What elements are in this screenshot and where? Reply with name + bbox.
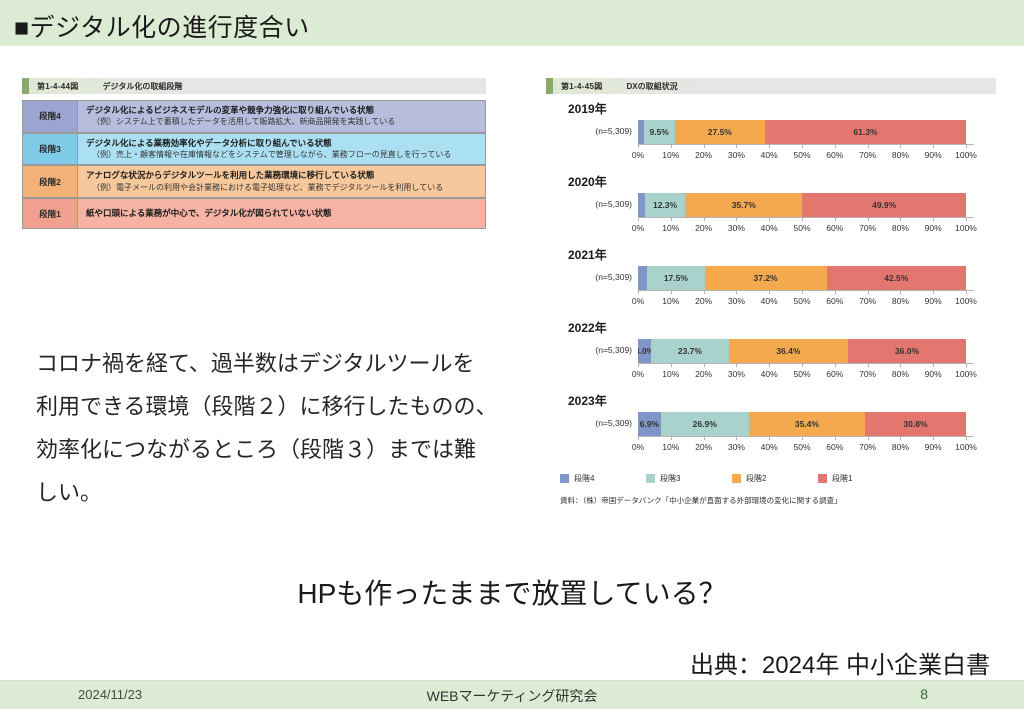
stage-body: 紙や口頭による業務が中心で、デジタル化が図られていない状態 <box>78 198 486 229</box>
stage-main-text: デジタル化によるビジネスモデルの変革や競争力強化に取り組んでいる状態 <box>86 105 479 116</box>
stage-example-text: （例）売上・顧客情報や在庫情報などをシステムで管理しながら、業務フローの見直しを… <box>86 149 479 160</box>
x-axis-tick <box>966 217 967 221</box>
bar-segment: 30.8% <box>865 412 966 436</box>
legend-swatch <box>732 474 741 483</box>
x-axis-tick <box>802 217 803 221</box>
x-axis-tick-label: 30% <box>728 223 745 233</box>
right-figure-caption-body: 第1-4-45図 DXの取組状況 <box>553 78 996 94</box>
x-axis-tick <box>868 144 869 148</box>
x-axis-tick <box>966 290 967 294</box>
legend-label: 段階2 <box>746 473 766 484</box>
bar-segment <box>638 266 647 290</box>
body-line: コロナ禍を経て、過半数はデジタルツールを <box>36 343 536 386</box>
x-axis-tick <box>802 290 803 294</box>
x-axis: 0%10%20%30%40%50%60%70%80%90%100% <box>638 363 966 383</box>
x-axis-tick <box>638 217 639 221</box>
x-axis-tick <box>638 436 639 440</box>
x-axis-tick-label: 60% <box>826 442 843 452</box>
x-axis-line <box>638 436 974 437</box>
x-axis-tick-label: 40% <box>761 296 778 306</box>
bar-group: 2022年(n=5,309)4.0%23.7%36.4%36.0%0%10%20… <box>546 319 996 392</box>
x-axis-tick-label: 40% <box>761 369 778 379</box>
x-axis-tick-label: 80% <box>892 296 909 306</box>
x-axis: 0%10%20%30%40%50%60%70%80%90%100% <box>638 144 966 164</box>
bar-year-label: 2020年 <box>568 173 607 190</box>
x-axis-tick <box>704 290 705 294</box>
x-axis-line <box>638 217 974 218</box>
x-axis-tick <box>868 217 869 221</box>
stage-row: 段階3 デジタル化による業務効率化やデータ分析に取り組んでいる状態 （例）売上・… <box>22 133 486 166</box>
x-axis-tick <box>736 144 737 148</box>
x-axis-tick-label: 100% <box>955 223 977 233</box>
stage-row: 段階1 紙や口頭による業務が中心で、デジタル化が図られていない状態 <box>22 198 486 229</box>
x-axis-tick-label: 70% <box>859 150 876 160</box>
bar-segment: 9.5% <box>644 120 675 144</box>
stage-label: 段階1 <box>22 198 78 229</box>
stage-label: 段階3 <box>22 133 78 166</box>
bar-year-label: 2019年 <box>568 100 607 117</box>
x-axis-tick <box>835 363 836 367</box>
x-axis-tick-label: 60% <box>826 150 843 160</box>
body-paragraph: コロナ禍を経て、過半数はデジタルツールを 利用できる環境（段階２）に移行したもの… <box>36 343 536 515</box>
bar-segment: 4.0% <box>638 339 651 363</box>
bar-segment: 23.7% <box>651 339 729 363</box>
x-axis-tick-label: 40% <box>761 223 778 233</box>
x-axis-tick <box>900 436 901 440</box>
footer-page-number: 8 <box>920 686 928 702</box>
x-axis-tick <box>769 290 770 294</box>
bar-segment: 49.9% <box>802 193 966 217</box>
x-axis-tick-label: 50% <box>793 223 810 233</box>
right-figure-accent-bar <box>546 78 553 94</box>
right-figure-title: DXの取組状況 <box>603 81 678 92</box>
x-axis-tick <box>671 290 672 294</box>
left-figure-caption: 第1-4-44図 デジタル化の取組段階 <box>22 78 486 94</box>
x-axis-tick-label: 90% <box>925 296 942 306</box>
x-axis-tick-label: 90% <box>925 223 942 233</box>
x-axis-tick-label: 100% <box>955 369 977 379</box>
legend-swatch <box>646 474 655 483</box>
x-axis-tick-label: 40% <box>761 150 778 160</box>
x-axis-tick <box>704 144 705 148</box>
x-axis-tick <box>736 290 737 294</box>
x-axis-tick <box>638 144 639 148</box>
left-figure-number: 第1-4-44図 <box>29 81 79 92</box>
x-axis-tick-label: 0% <box>632 442 644 452</box>
bar-segment: 17.5% <box>647 266 704 290</box>
legend-item: 段階4 <box>560 473 646 484</box>
bar-segment: 26.9% <box>661 412 749 436</box>
x-axis-tick-label: 80% <box>892 223 909 233</box>
x-axis-tick <box>933 363 934 367</box>
x-axis-tick <box>933 436 934 440</box>
bar-segment: 35.7% <box>685 193 802 217</box>
x-axis-tick-label: 30% <box>728 296 745 306</box>
stage-table: 段階4 デジタル化によるビジネスモデルの変革や競争力強化に取り組んでいる状態 （… <box>22 100 486 229</box>
x-axis-line <box>638 363 974 364</box>
x-axis-tick <box>802 144 803 148</box>
x-axis: 0%10%20%30%40%50%60%70%80%90%100% <box>638 217 966 237</box>
x-axis-tick <box>704 436 705 440</box>
bar-track: 4.0%23.7%36.4%36.0% <box>638 339 966 363</box>
citation-text: 出典：2024年 中小企業白書 <box>690 645 990 680</box>
bar-track: 9.5%27.5%61.3% <box>638 120 966 144</box>
x-axis-tick-label: 10% <box>662 442 679 452</box>
x-axis-tick-label: 20% <box>695 369 712 379</box>
right-figure-caption: 第1-4-45図 DXの取組状況 <box>546 78 996 94</box>
bar-group: 2023年(n=5,309)6.9%26.9%35.4%30.8%0%10%20… <box>546 392 996 465</box>
stage-example-text: （例）システム上で蓄積したデータを活用して販路拡大、新商品開発を実践している <box>86 116 479 127</box>
x-axis: 0%10%20%30%40%50%60%70%80%90%100% <box>638 436 966 456</box>
stage-body: デジタル化によるビジネスモデルの変革や競争力強化に取り組んでいる状態 （例）シス… <box>78 100 486 133</box>
x-axis-tick-label: 60% <box>826 369 843 379</box>
x-axis-tick-label: 20% <box>695 150 712 160</box>
slide-footer-band: 2024/11/23 WEBマーケティング研究会 8 <box>0 680 1024 709</box>
x-axis-tick <box>802 436 803 440</box>
x-axis-tick-label: 100% <box>955 442 977 452</box>
x-axis-tick <box>966 363 967 367</box>
stage-body: アナログな状況からデジタルツールを利用した業務環境に移行している状態 （例）電子… <box>78 165 486 198</box>
x-axis-tick <box>900 290 901 294</box>
bar-track: 17.5%37.2%42.5% <box>638 266 966 290</box>
stage-row: 段階4 デジタル化によるビジネスモデルの変革や競争力強化に取り組んでいる状態 （… <box>22 100 486 133</box>
x-axis-tick <box>638 363 639 367</box>
x-axis-tick-label: 40% <box>761 442 778 452</box>
right-figure-number: 第1-4-45図 <box>553 81 603 92</box>
x-axis-tick-label: 70% <box>859 296 876 306</box>
x-axis-tick-label: 100% <box>955 296 977 306</box>
x-axis-tick <box>868 436 869 440</box>
stage-body: デジタル化による業務効率化やデータ分析に取り組んでいる状態 （例）売上・顧客情報… <box>78 133 486 166</box>
x-axis-tick <box>966 436 967 440</box>
x-axis-tick-label: 30% <box>728 150 745 160</box>
bar-segment <box>638 193 645 217</box>
stage-label: 段階4 <box>22 100 78 133</box>
x-axis-tick-label: 90% <box>925 442 942 452</box>
x-axis-tick <box>671 144 672 148</box>
left-figure-title: デジタル化の取組段階 <box>79 81 183 92</box>
legend-item: 段階3 <box>646 473 732 484</box>
bar-sample-size: (n=5,309) <box>562 418 632 428</box>
x-axis-tick-label: 30% <box>728 442 745 452</box>
bar-segment: 37.2% <box>705 266 827 290</box>
x-axis-tick <box>900 144 901 148</box>
x-axis-line <box>638 290 974 291</box>
body-line: 効率化につながるところ（段階３）までは難 <box>36 429 536 472</box>
x-axis-tick-label: 90% <box>925 369 942 379</box>
x-axis-tick <box>769 144 770 148</box>
x-axis-tick <box>933 217 934 221</box>
x-axis-tick <box>769 363 770 367</box>
x-axis-tick-label: 10% <box>662 369 679 379</box>
dx-stacked-bar-chart: 2019年(n=5,309)9.5%27.5%61.3%0%10%20%30%4… <box>546 100 996 465</box>
bar-segment: 12.3% <box>645 193 685 217</box>
x-axis-tick-label: 20% <box>695 296 712 306</box>
x-axis-tick-label: 100% <box>955 150 977 160</box>
x-axis-tick <box>736 436 737 440</box>
x-axis-tick-label: 80% <box>892 442 909 452</box>
bar-segment: 42.5% <box>827 266 966 290</box>
x-axis-tick-label: 50% <box>793 369 810 379</box>
x-axis-tick-label: 20% <box>695 223 712 233</box>
bar-track: 12.3%35.7%49.9% <box>638 193 966 217</box>
x-axis-tick <box>933 290 934 294</box>
x-axis-tick <box>966 144 967 148</box>
bar-year-label: 2021年 <box>568 246 607 263</box>
bar-group: 2021年(n=5,309)17.5%37.2%42.5%0%10%20%30%… <box>546 246 996 319</box>
x-axis-tick <box>868 363 869 367</box>
x-axis-tick-label: 10% <box>662 296 679 306</box>
x-axis-tick-label: 50% <box>793 150 810 160</box>
legend-item: 段階2 <box>732 473 818 484</box>
bar-group: 2020年(n=5,309)12.3%35.7%49.9%0%10%20%30%… <box>546 173 996 246</box>
bar-segment: 6.9% <box>638 412 661 436</box>
bar-sample-size: (n=5,309) <box>562 272 632 282</box>
x-axis-tick-label: 60% <box>826 223 843 233</box>
x-axis-tick-label: 70% <box>859 223 876 233</box>
x-axis-tick-label: 70% <box>859 442 876 452</box>
bar-segment: 27.5% <box>675 120 765 144</box>
legend-label: 段階3 <box>660 473 680 484</box>
x-axis-tick-label: 70% <box>859 369 876 379</box>
x-axis-tick <box>769 436 770 440</box>
x-axis-tick-label: 10% <box>662 150 679 160</box>
bar-year-label: 2022年 <box>568 319 607 336</box>
x-axis-tick-label: 0% <box>632 150 644 160</box>
x-axis-tick <box>704 363 705 367</box>
stage-label: 段階2 <box>22 165 78 198</box>
stage-main-text: 紙や口頭による業務が中心で、デジタル化が図られていない状態 <box>86 208 479 219</box>
x-axis-tick <box>835 144 836 148</box>
bar-segment: 36.0% <box>848 339 966 363</box>
x-axis-tick <box>638 290 639 294</box>
body-line: 利用できる環境（段階２）に移行したものの、 <box>36 386 536 429</box>
x-axis-tick <box>704 217 705 221</box>
x-axis-tick-label: 50% <box>793 442 810 452</box>
slide: ■デジタル化の進行度合い 第1-4-44図 デジタル化の取組段階 段階4 デジタ… <box>0 0 1024 709</box>
x-axis-tick-label: 50% <box>793 296 810 306</box>
x-axis-tick <box>835 290 836 294</box>
x-axis-tick <box>868 290 869 294</box>
x-axis-line <box>638 144 974 145</box>
x-axis-tick <box>769 217 770 221</box>
question-text: HPも作ったままで放置している？ <box>0 572 1024 612</box>
footer-org-name: WEBマーケティング研究会 <box>0 686 1024 706</box>
bar-sample-size: (n=5,309) <box>562 199 632 209</box>
page-title: ■デジタル化の進行度合い <box>14 8 310 44</box>
legend-label: 段階4 <box>574 473 594 484</box>
x-axis-tick-label: 0% <box>632 369 644 379</box>
x-axis-tick <box>671 363 672 367</box>
chart-source-note: 資料：（株）帝国データバンク「中小企業が直面する外部環境の変化に関する調査」 <box>560 495 842 506</box>
stage-main-text: デジタル化による業務効率化やデータ分析に取り組んでいる状態 <box>86 138 479 149</box>
bar-sample-size: (n=5,309) <box>562 345 632 355</box>
x-axis-tick <box>736 363 737 367</box>
x-axis-tick <box>671 436 672 440</box>
stage-main-text: アナログな状況からデジタルツールを利用した業務環境に移行している状態 <box>86 170 479 181</box>
x-axis-tick-label: 60% <box>826 296 843 306</box>
bar-track: 6.9%26.9%35.4%30.8% <box>638 412 966 436</box>
x-axis-tick-label: 80% <box>892 369 909 379</box>
x-axis-tick-label: 20% <box>695 442 712 452</box>
bar-segment: 36.4% <box>729 339 848 363</box>
x-axis-tick <box>835 436 836 440</box>
x-axis-tick-label: 30% <box>728 369 745 379</box>
legend-item: 段階1 <box>818 473 904 484</box>
x-axis-tick <box>736 217 737 221</box>
x-axis-tick <box>900 363 901 367</box>
bar-year-label: 2023年 <box>568 392 607 409</box>
legend-swatch <box>560 474 569 483</box>
x-axis-tick <box>835 217 836 221</box>
bar-sample-size: (n=5,309) <box>562 126 632 136</box>
stage-row: 段階2 アナログな状況からデジタルツールを利用した業務環境に移行している状態 （… <box>22 165 486 198</box>
x-axis-tick <box>933 144 934 148</box>
x-axis-tick <box>671 217 672 221</box>
left-figure-accent-bar <box>22 78 29 94</box>
x-axis: 0%10%20%30%40%50%60%70%80%90%100% <box>638 290 966 310</box>
x-axis-tick-label: 10% <box>662 223 679 233</box>
left-figure-caption-body: 第1-4-44図 デジタル化の取組段階 <box>29 78 486 94</box>
legend-swatch <box>818 474 827 483</box>
bar-segment: 61.3% <box>765 120 966 144</box>
x-axis-tick <box>802 363 803 367</box>
chart-legend: 段階4段階3段階2段階1 <box>560 473 904 484</box>
bar-group: 2019年(n=5,309)9.5%27.5%61.3%0%10%20%30%4… <box>546 100 996 173</box>
stage-example-text: （例）電子メールの利用や会計業務における電子処理など、業務でデジタルツールを利用… <box>86 182 479 193</box>
x-axis-tick-label: 80% <box>892 150 909 160</box>
x-axis-tick-label: 90% <box>925 150 942 160</box>
x-axis-tick-label: 0% <box>632 223 644 233</box>
x-axis-tick <box>900 217 901 221</box>
body-line: しい。 <box>36 472 536 515</box>
bar-segment: 35.4% <box>749 412 865 436</box>
legend-label: 段階1 <box>832 473 852 484</box>
x-axis-tick-label: 0% <box>632 296 644 306</box>
